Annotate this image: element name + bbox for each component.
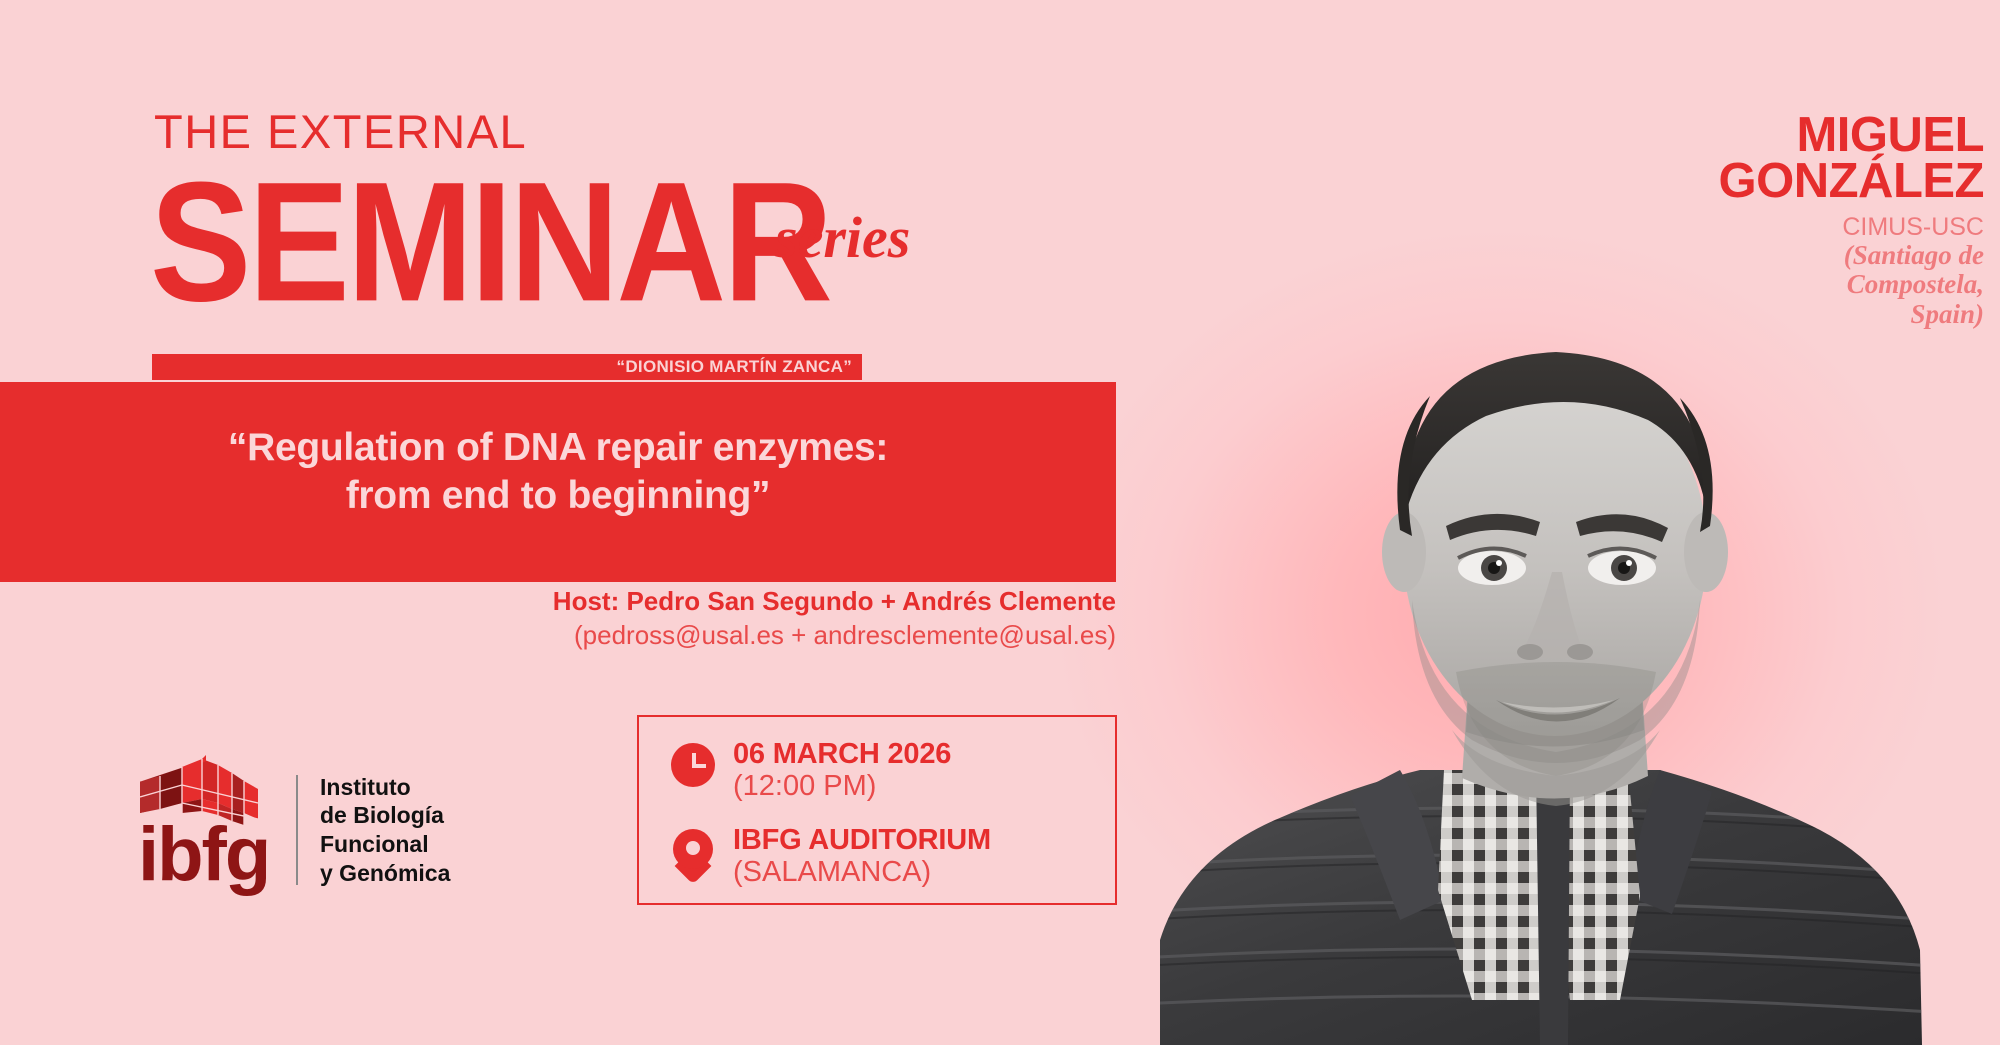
host-block: Host: Pedro San Segundo + Andrés Clement…: [0, 586, 1117, 651]
talk-title-line-1: “Regulation of DNA repair enzymes:: [40, 424, 1076, 472]
headline-main-row: SEMINAR series “DIONISIO MARTÍN ZANCA”: [150, 157, 870, 287]
event-time: (12:00 PM): [733, 770, 951, 802]
speaker-first-name: MIGUEL: [1344, 112, 1984, 158]
headline-seminar-word: SEMINAR: [150, 157, 870, 327]
event-venue: IBFG AUDITORIUM: [733, 825, 991, 856]
event-city: (SALAMANCA): [733, 856, 991, 888]
seminar-headline: THE EXTERNAL SEMINAR series “DIONISIO MA…: [150, 108, 870, 287]
map-pin-icon: [665, 825, 721, 881]
event-date: 06 MARCH 2026: [733, 739, 951, 770]
speaker-block: MIGUEL GONZÁLEZ CIMUS-USC (Santiago de C…: [1344, 112, 1984, 328]
speaker-portrait: [1100, 300, 2000, 1045]
event-info-box: 06 MARCH 2026 (12:00 PM) IBFG AUDITORIUM…: [637, 715, 1117, 905]
institute-name-line-2: de Biología: [320, 801, 450, 830]
speaker-affiliation: CIMUS-USC: [1344, 214, 1984, 240]
speaker-location-line-1: (Santiago de: [1344, 241, 1984, 269]
host-emails: (pedross@usal.es + andresclemente@usal.e…: [0, 620, 1116, 651]
dedication-bar: “DIONISIO MARTÍN ZANCA”: [152, 354, 862, 380]
ibfg-wordmark: ibfg: [138, 817, 269, 893]
institute-name-line-1: Instituto: [320, 773, 450, 802]
event-datetime-row: 06 MARCH 2026 (12:00 PM): [665, 739, 951, 803]
ibfg-institute-name: Instituto de Biología Funcional y Genómi…: [320, 773, 450, 888]
institute-name-line-3: Funcional: [320, 830, 450, 859]
dedication-label: “DIONISIO MARTÍN ZANCA”: [617, 357, 852, 377]
event-venue-row: IBFG AUDITORIUM (SALAMANCA): [665, 825, 991, 889]
speaker-portrait-image: [1100, 300, 2000, 1045]
institute-name-line-4: y Genómica: [320, 859, 450, 888]
talk-title-banner: “Regulation of DNA repair enzymes: from …: [0, 382, 1116, 582]
ibfg-logo-mark: ibfg: [140, 755, 262, 905]
headline-series-word: series: [775, 209, 910, 267]
speaker-last-name: GONZÁLEZ: [1344, 158, 1984, 204]
talk-title: “Regulation of DNA repair enzymes: from …: [0, 424, 1116, 519]
host-names: Host: Pedro San Segundo + Andrés Clement…: [0, 586, 1116, 617]
seminar-poster: THE EXTERNAL SEMINAR series “DIONISIO MA…: [0, 0, 2000, 1045]
logo-divider: [296, 775, 298, 885]
talk-title-line-2: from end to beginning”: [40, 472, 1076, 520]
ibfg-logo: ibfg Instituto de Biología Funcional y G…: [140, 755, 450, 905]
clock-icon: [665, 739, 721, 787]
speaker-location-line-2: Compostela,: [1344, 270, 1984, 298]
